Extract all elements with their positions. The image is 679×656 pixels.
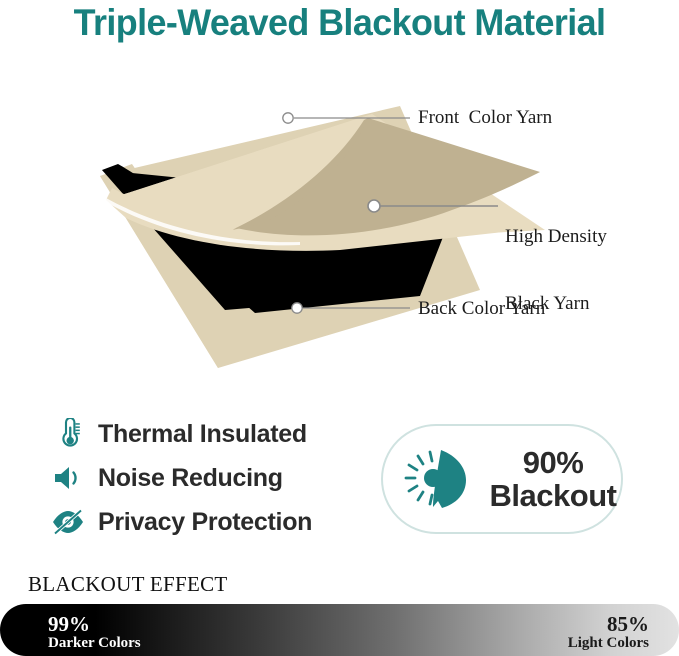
callout-label-line1: High Density (505, 226, 607, 248)
thermometer-icon (48, 415, 88, 453)
blackout-percent: 90% (523, 445, 584, 480)
callout-label-back-color-yarn: Back Color Yarn (418, 298, 545, 320)
blackout-badge: 90% Blackout (381, 424, 623, 534)
light-colors-caption: Light Colors (568, 635, 649, 652)
light-colors-percent: 85% (568, 613, 649, 635)
callout-label-front-color-yarn: Front Color Yarn (418, 107, 552, 129)
blackout-effect-title: BLACKOUT EFFECT (28, 572, 228, 597)
eye-slash-icon (48, 503, 88, 541)
feature-label: Thermal Insulated (98, 420, 307, 449)
blackout-word: Blackout (490, 478, 617, 513)
darker-colors-caption: Darker Colors (48, 635, 141, 652)
blackout-effect-gradient-bar: 99% Darker Colors 85% Light Colors (0, 604, 679, 656)
feature-label: Noise Reducing (98, 464, 283, 493)
page-title: Triple-Weaved Blackout Material (10, 2, 669, 44)
feature-list: Thermal Insulated Noise Reducing Privacy… (48, 412, 368, 544)
feature-item-noise-reducing: Noise Reducing (48, 456, 368, 500)
speaker-icon (48, 459, 88, 497)
darker-colors-percent: 99% (48, 613, 141, 635)
blackout-badge-text: 90% Blackout (485, 446, 621, 513)
feature-label: Privacy Protection (98, 508, 312, 537)
feature-item-privacy-protection: Privacy Protection (48, 500, 368, 544)
feature-item-thermal-insulated: Thermal Insulated (48, 412, 368, 456)
sun-blocked-icon (399, 440, 477, 518)
gradient-bar-right-stat: 85% Light Colors (568, 613, 649, 652)
gradient-bar-left-stat: 99% Darker Colors (48, 613, 141, 652)
